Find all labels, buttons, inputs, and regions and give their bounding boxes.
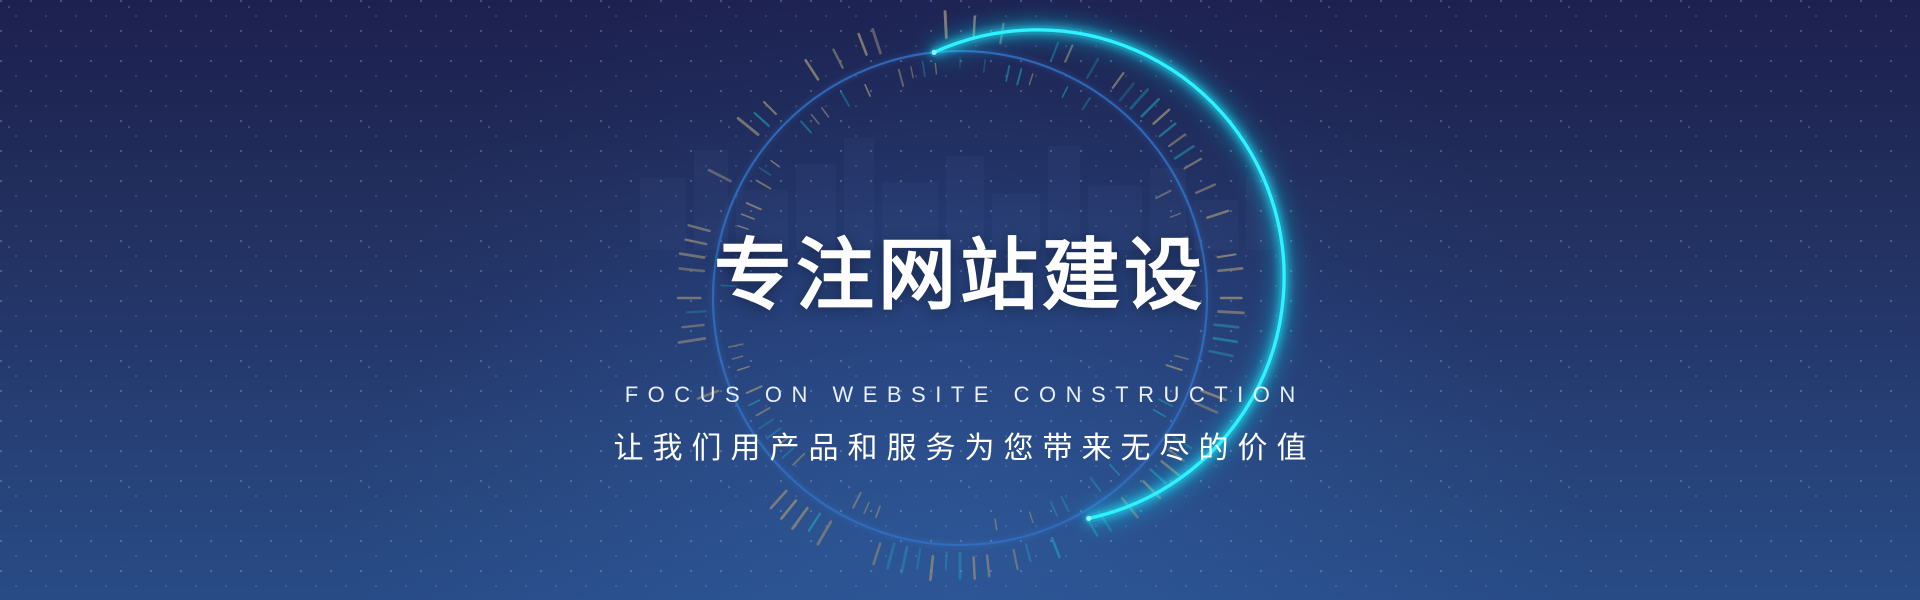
page-title: 专注网站建设 [714, 232, 1206, 318]
tagline-chinese: 让我们用产品和服务为您带来无尽的价值 [605, 430, 1316, 468]
banner-content: 专注网站建设 FOCUS ON WEBSITE CONSTRUCTION 让我们… [0, 0, 1920, 600]
hero-banner: 专注网站建设 FOCUS ON WEBSITE CONSTRUCTION 让我们… [0, 0, 1920, 600]
subtitle-english: FOCUS ON WEBSITE CONSTRUCTION [615, 382, 1305, 408]
